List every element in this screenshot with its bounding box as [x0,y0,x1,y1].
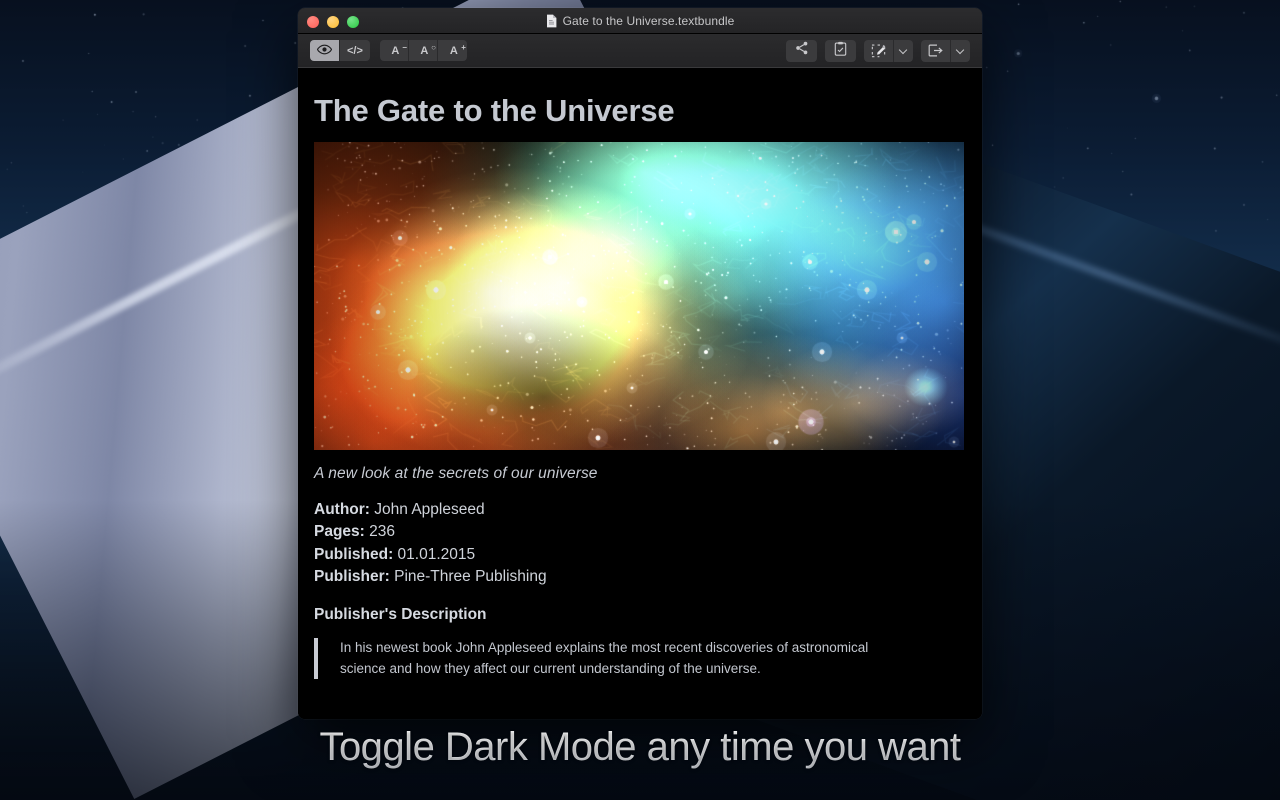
source-mode-button[interactable]: </> [340,40,370,61]
metadata-key: Pages: [314,523,365,540]
export-icon [921,40,951,62]
window-titlebar[interactable]: Gate to the Universe.textbundle [298,8,982,34]
metadata-value: 236 [369,523,395,540]
code-icon: </> [347,45,363,57]
metadata-list: Author: John Appleseed Pages: 236 Publis… [314,499,948,588]
description-quote: In his newest book John Appleseed explai… [314,638,879,679]
window-title-area: Gate to the Universe.textbundle [298,8,982,34]
clipboard-icon [834,41,847,61]
chevron-down-icon [957,47,964,54]
font-larger-glyph: A+ [450,45,458,57]
font-larger-button[interactable]: A+ [438,40,467,61]
metadata-row: Published: 01.01.2015 [314,544,948,566]
toolbar-left-group: </> A− A○ A+ [310,40,467,61]
document-subtitle: A new look at the secrets of our univers… [314,465,948,483]
metadata-value: John Appleseed [374,501,484,518]
app-window: Gate to the Universe.textbundle </> [298,8,982,719]
metadata-value: 01.01.2015 [398,546,476,563]
font-reset-button[interactable]: A○ [409,40,438,61]
clipboard-button[interactable] [825,40,856,62]
metadata-row: Author: John Appleseed [314,499,948,521]
toolbar: </> A− A○ A+ [298,34,982,68]
nebula-canvas [314,142,964,450]
eye-icon [317,44,332,58]
font-smaller-glyph: A− [391,45,399,57]
chevron-down-icon [900,47,907,54]
export-button[interactable] [921,40,970,62]
description-heading: Publisher's Description [314,606,948,624]
nebula-image [314,142,964,450]
metadata-value: Pine-Three Publishing [394,568,547,585]
preview-mode-button[interactable] [310,40,340,61]
metadata-key: Published: [314,546,393,563]
markup-pencil-icon [864,40,894,62]
page-title: The Gate to the Universe [314,94,948,128]
metadata-row: Pages: 236 [314,521,948,543]
document-icon [546,14,557,28]
promo-caption: Toggle Dark Mode any time you want [0,725,1280,770]
view-mode-segmented-control: </> [310,40,370,61]
font-smaller-button[interactable]: A− [380,40,409,61]
metadata-key: Publisher: [314,568,390,585]
document-preview[interactable]: The Gate to the Universe A new look at t… [298,68,982,719]
metadata-key: Author: [314,501,370,518]
toolbar-right-group [786,40,970,62]
metadata-row: Publisher: Pine-Three Publishing [314,566,948,588]
window-title: Gate to the Universe.textbundle [563,14,735,28]
markup-dropdown-toggle[interactable] [894,40,913,62]
export-dropdown-toggle[interactable] [951,40,970,62]
share-icon [795,41,809,60]
font-reset-glyph: A○ [420,45,428,57]
font-size-segmented-control: A− A○ A+ [380,40,467,61]
share-button[interactable] [786,40,817,62]
markup-button[interactable] [864,40,913,62]
